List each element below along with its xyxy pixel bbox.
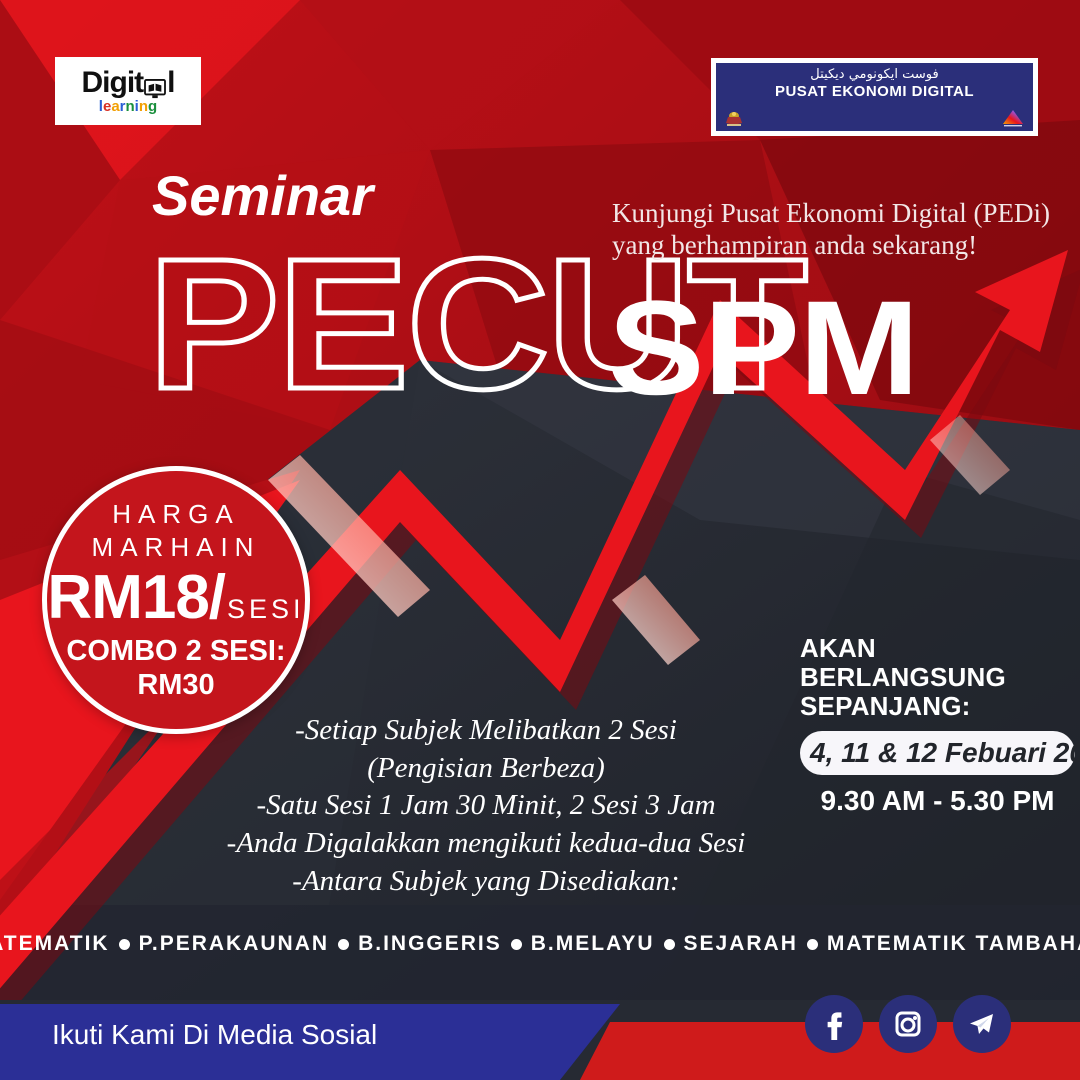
poster: Digit l learning فوست ايكونومي ديكيتل PU… xyxy=(0,0,1080,1080)
bullet-separator-icon xyxy=(338,939,349,950)
price-amount: RM18/ xyxy=(47,567,225,629)
pedi-jawi-text: فوست ايكونومي ديكيتل xyxy=(810,68,938,82)
price-label-line-2: MARHAIN xyxy=(92,531,261,564)
note-line: -Anda Digalakkan mengikuti kedua-dua Ses… xyxy=(176,825,796,863)
subject-item: P.PERAKAUNAN xyxy=(139,932,329,956)
logo-subword-letter: g xyxy=(148,99,157,114)
social-links[interactable] xyxy=(805,995,1011,1053)
logo-subword-letter: n xyxy=(126,99,135,114)
note-line: (Pengisian Berbeza) xyxy=(176,750,796,788)
mcmc-triangle-icon xyxy=(1001,109,1025,127)
logo-word-tail: l xyxy=(167,68,174,98)
facebook-icon[interactable] xyxy=(805,995,863,1053)
page-title-suffix: SPM xyxy=(608,282,918,416)
logo-word-main: Digit xyxy=(82,68,144,98)
digital-learning-logo: Digit l learning xyxy=(55,57,201,125)
logo-subword: learning xyxy=(99,99,157,114)
price-combo-line-1: COMBO 2 SESI: xyxy=(66,635,285,668)
logo-subword-letter: a xyxy=(111,99,119,114)
price-badge: HARGA MARHAIN RM18/ SESI COMBO 2 SESI: R… xyxy=(42,466,310,734)
logo-subword-letter: n xyxy=(139,99,148,114)
instagram-icon[interactable] xyxy=(879,995,937,1053)
schedule-heading-line-2: SEPANJANG: xyxy=(800,692,1075,721)
subject-item: SEJARAH xyxy=(684,932,798,956)
schedule-dates-badge: 4, 11 & 12 Febuari 2023 xyxy=(800,731,1075,775)
callout-line-1: Kunjungi Pusat Ekonomi Digital (PEDi) xyxy=(612,198,1080,230)
subject-item: MATEMATIK xyxy=(0,932,110,956)
note-line: -Satu Sesi 1 Jam 30 Minit, 2 Sesi 3 Jam xyxy=(176,787,796,825)
price-combo-line-2: RM30 xyxy=(137,669,214,702)
note-line: -Setiap Subjek Melibatkan 2 Sesi xyxy=(176,712,796,750)
bullet-separator-icon xyxy=(119,939,130,950)
logo-subword-letter: e xyxy=(103,99,111,114)
session-notes: -Setiap Subjek Melibatkan 2 Sesi (Pengis… xyxy=(176,712,796,900)
follow-us-text: Ikuti Kami Di Media Sosial xyxy=(52,1019,377,1051)
price-unit: SESI xyxy=(227,596,305,623)
note-line: -Antara Subjek yang Disediakan: xyxy=(176,863,796,901)
book-screen-icon xyxy=(144,75,166,95)
callout-line-2: yang berhampiran anda sekarang! xyxy=(612,230,1080,262)
pedi-logo: فوست ايكونومي ديكيتل PUSAT EKONOMI DIGIT… xyxy=(711,58,1038,136)
bullet-separator-icon xyxy=(664,939,675,950)
subject-list: MATEMATIKP.PERAKAUNANB.INGGERISB.MELAYUS… xyxy=(0,932,1080,956)
bullet-separator-icon xyxy=(511,939,522,950)
telegram-icon[interactable] xyxy=(953,995,1011,1053)
bullet-separator-icon xyxy=(807,939,818,950)
subject-item: B.INGGERIS xyxy=(358,932,502,956)
callout-text: Kunjungi Pusat Ekonomi Digital (PEDi) ya… xyxy=(612,198,1080,262)
subject-item: B.MELAYU xyxy=(531,932,655,956)
pedi-latin-text: PUSAT EKONOMI DIGITAL xyxy=(775,84,974,101)
schedule-heading-line-1: AKAN BERLANGSUNG xyxy=(800,634,1075,692)
malaysia-coat-of-arms-icon xyxy=(724,109,744,127)
price-main: RM18/ SESI xyxy=(47,567,304,629)
subject-item: MATEMATIK TAMBAHAN xyxy=(827,932,1080,956)
schedule-heading: AKAN BERLANGSUNG SEPANJANG: xyxy=(800,634,1075,721)
logo-wordmark: Digit l xyxy=(82,68,175,98)
schedule-block: AKAN BERLANGSUNG SEPANJANG: 4, 11 & 12 F… xyxy=(800,634,1075,817)
eyebrow-title: Seminar xyxy=(152,168,373,224)
schedule-time: 9.30 AM - 5.30 PM xyxy=(800,785,1075,817)
price-label-line-1: HARGA xyxy=(112,498,239,531)
